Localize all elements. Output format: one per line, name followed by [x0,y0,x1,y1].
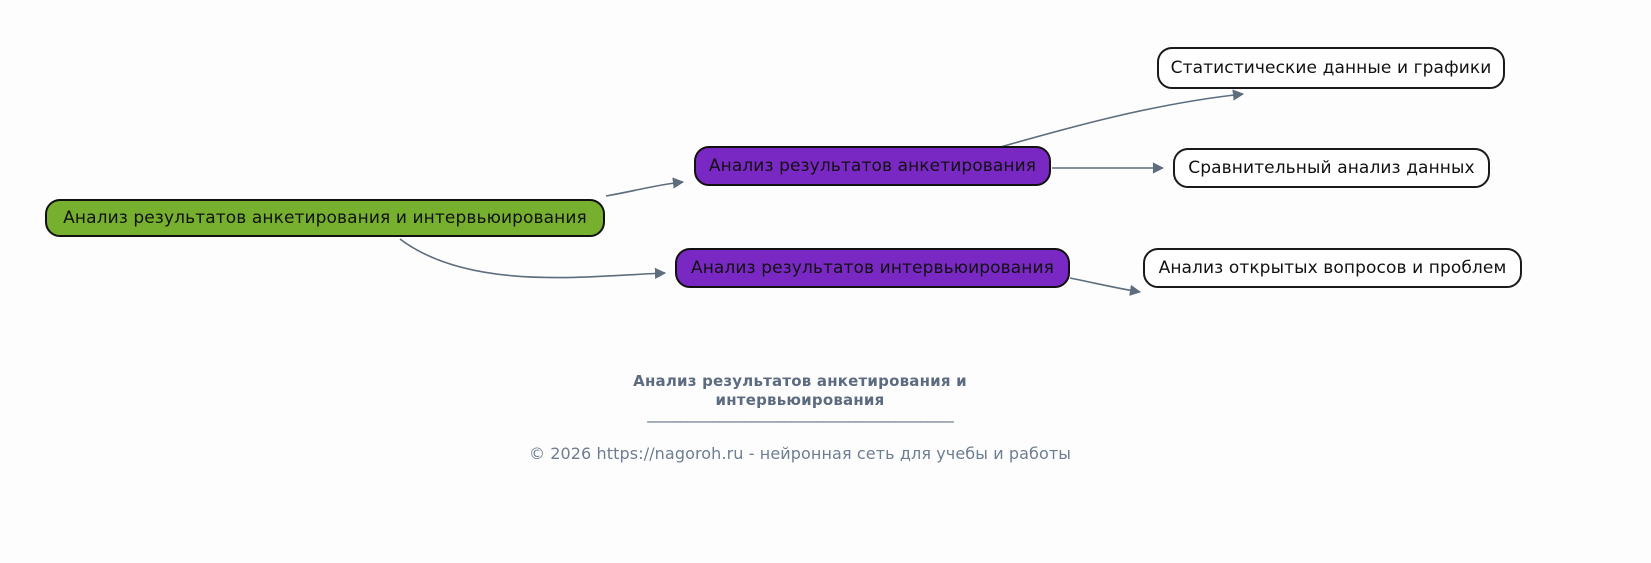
node-branch-1[interactable]: Анализ результатов анкетирования [694,146,1051,186]
caption-divider: ________________________________________… [520,405,1080,423]
node-root[interactable]: Анализ результатов анкетирования и интер… [45,199,605,237]
node-leaf-comparative-label: Сравнительный анализ данных [1188,158,1474,178]
footer-copyright: © 2026 https://nagoroh.ru - нейронная се… [400,444,1200,463]
node-leaf-open-questions[interactable]: Анализ открытых вопросов и проблем [1143,248,1522,288]
node-leaf-statistics[interactable]: Статистические данные и графики [1157,47,1505,89]
mindmap-canvas: Анализ результатов анкетирования и интер… [0,0,1651,563]
node-branch-1-label: Анализ результатов анкетирования [709,156,1036,176]
node-branch-2-label: Анализ результатов интервьюирования [691,258,1054,278]
edge-root-to-branch-2 [400,239,665,278]
node-root-label: Анализ результатов анкетирования и интер… [63,208,587,228]
edge-branch-2-to-leaf-3 [1070,278,1140,292]
node-leaf-statistics-label: Статистические данные и графики [1171,58,1492,78]
edge-root-to-branch-1 [606,182,683,196]
node-leaf-comparative[interactable]: Сравнительный анализ данных [1173,148,1490,188]
diagram-caption-line-1: Анализ результатов анкетирования и [520,372,1080,391]
node-leaf-open-questions-label: Анализ открытых вопросов и проблем [1159,258,1507,278]
edge-branch-1-to-leaf-1 [990,94,1243,150]
node-branch-2[interactable]: Анализ результатов интервьюирования [675,248,1070,288]
